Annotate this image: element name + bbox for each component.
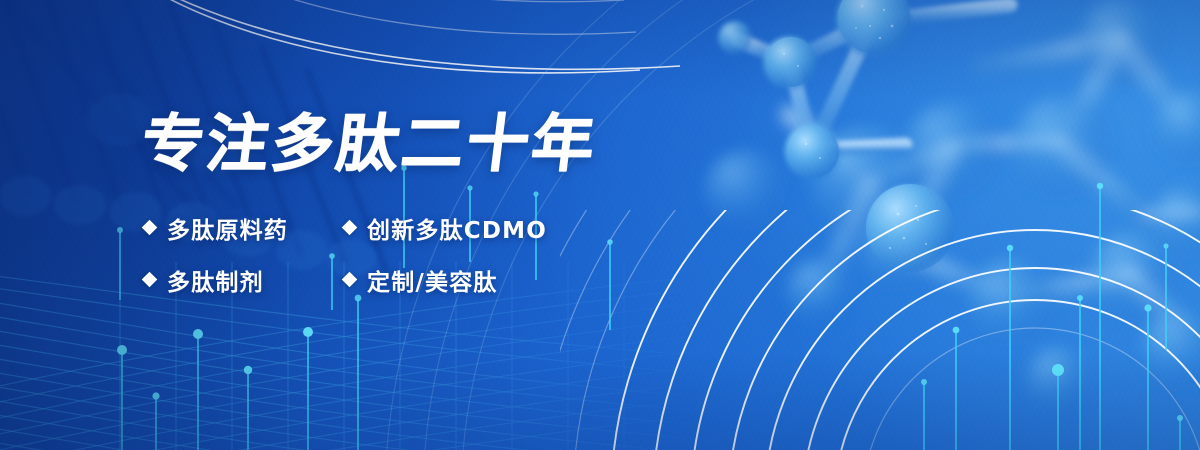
list-item: 多肽原料药 [144, 211, 344, 245]
feature-label: 多肽原料药 [167, 211, 288, 245]
hero-banner: 专注多肽二十年 多肽原料药 创新多肽CDMO 多肽制剂 定制/美容肽 [0, 0, 1200, 450]
feature-label: 多肽制剂 [167, 263, 264, 297]
diamond-bullet-icon [142, 220, 158, 236]
feature-list: 多肽原料药 创新多肽CDMO 多肽制剂 定制/美容肽 [144, 202, 758, 306]
feature-label: 创新多肽CDMO [367, 211, 547, 245]
diamond-bullet-icon [342, 272, 358, 288]
list-item: 创新多肽CDMO [344, 211, 758, 245]
diamond-bullet-icon [142, 272, 158, 288]
diamond-bullet-icon [342, 220, 358, 236]
banner-copy: 专注多肽二十年 多肽原料药 创新多肽CDMO 多肽制剂 定制/美容肽 [138, 112, 758, 306]
page-title: 专注多肽二十年 [138, 112, 766, 176]
list-item: 定制/美容肽 [344, 263, 758, 297]
list-item: 多肽制剂 [144, 263, 344, 297]
feature-label: 定制/美容肽 [367, 263, 498, 297]
